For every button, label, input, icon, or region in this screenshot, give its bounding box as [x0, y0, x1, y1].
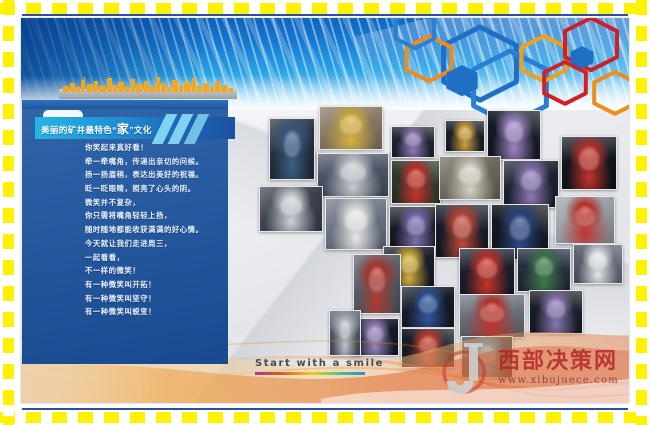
- photo-subject: [407, 217, 426, 235]
- poster-line: 你只需将嘴角轻轻上扬，: [85, 212, 235, 219]
- photo-subject: [369, 268, 386, 292]
- poster-title-band: 美丽的矿井最特色“家”文化: [35, 117, 235, 139]
- photo-office-meeting: [259, 186, 323, 232]
- photo-subject: [575, 207, 596, 226]
- bottom-blue-rule: [22, 408, 628, 410]
- title-highlight: 家: [117, 122, 129, 136]
- poster-line: 有一种微笑叫坚守！: [85, 295, 235, 302]
- photo-content: [392, 127, 434, 157]
- photo-subject: [589, 253, 606, 269]
- photo-green-jacket: [517, 248, 571, 292]
- photo-subject: [579, 148, 598, 170]
- poster-line: 微笑并不复杂，: [85, 199, 235, 206]
- border-dash-top: [0, 3, 650, 14]
- photo-content: [392, 161, 440, 203]
- photo-subject: [280, 197, 302, 215]
- city-skyline-silhouette-icon: [61, 76, 235, 92]
- tagline-color-bar: [255, 372, 365, 375]
- photo-helmet-portrait-1: [391, 126, 435, 158]
- photo-subject: [535, 258, 554, 276]
- watermark-brand: 西部决策网: [498, 351, 619, 373]
- poster-line: 扬一扬眉稍，表达出美好的祝福。: [85, 171, 235, 178]
- photo-headlamp-4: [487, 110, 541, 160]
- border-dash-right: [636, 0, 647, 425]
- watermark-text: 西部决策网 www.xibujuece.com: [498, 351, 619, 386]
- title-suffix: 文化: [134, 125, 152, 135]
- photo-content: [326, 199, 386, 249]
- photo-red-helmet-2: [459, 248, 515, 296]
- poster-body-text: 你笑起来真好看！牵一牵嘴角，传递出亲切的问候。扬一扬眉稍，表达出美好的祝福。眨一…: [85, 144, 235, 322]
- photo-subject: [405, 134, 420, 147]
- poster-line: 今天就让我们走进周三，: [85, 240, 235, 247]
- photo-red-helmet: [391, 160, 441, 204]
- poster-line: 你笑起来真好看！: [85, 144, 235, 151]
- photo-content: [518, 249, 570, 291]
- photo-content: [320, 107, 382, 149]
- watermark: 西部决策网 www.xibujuece.com: [440, 339, 619, 397]
- photo-subject: [510, 217, 530, 240]
- poster-line: 不一样的微笑！: [85, 267, 235, 274]
- photo-subject: [419, 296, 438, 313]
- photo-subject: [458, 128, 472, 141]
- photo-shop-desk: [439, 156, 501, 200]
- tagline-block: Start with a smile: [255, 358, 384, 375]
- photo-content: [460, 249, 514, 295]
- photo-subject: [505, 122, 524, 142]
- poster-line: 随时随地都能收获满满的好心情。: [85, 226, 235, 233]
- poster-line: 有一种微笑叫开拓！: [85, 281, 235, 288]
- photo-gymnasium: [555, 196, 615, 244]
- photo-subject: [521, 171, 540, 190]
- poster-canvas: 美丽的矿井最特色“家”文化 你笑起来真好看！牵一牵嘴角，传递出亲切的问候。扬一扬…: [0, 0, 650, 425]
- photo-content: [260, 187, 322, 231]
- border-dash-left: [3, 0, 14, 425]
- watermark-url: www.xibujuece.com: [498, 375, 619, 386]
- photo-content: [440, 157, 500, 199]
- poster-line: 有一种微笑叫蜕变！: [85, 308, 235, 315]
- photo-content: [504, 161, 558, 207]
- title-slash-decor: [151, 117, 261, 139]
- photo-content: [446, 121, 484, 151]
- poster-line: 牵一牵嘴角，传递出亲切的问候。: [85, 158, 235, 165]
- poster-line: 眨一眨眼睛，照亮了心头的阴。: [85, 185, 235, 192]
- photo-content: [354, 255, 400, 313]
- photo-red-cap-night: [561, 136, 617, 190]
- photo-subject: [400, 256, 418, 273]
- photo-subject: [453, 216, 472, 238]
- photo-subject: [345, 210, 367, 231]
- photo-headlamp-5: [503, 160, 559, 208]
- poster-line: 一起看看，: [85, 254, 235, 261]
- photo-white-shirt-man: [325, 198, 387, 250]
- photo-group-photo: [317, 153, 389, 197]
- top-blue-rule: [22, 14, 628, 16]
- photo-subject: [284, 132, 300, 157]
- photo-headlamp-3: [445, 120, 485, 152]
- photo-miner-control-room: [269, 118, 315, 180]
- photo-subject: [340, 163, 365, 181]
- border-dash-bottom: [0, 412, 650, 423]
- photo-desk-writing: [319, 106, 383, 150]
- photo-subject: [459, 166, 481, 184]
- photo-subject: [477, 259, 496, 278]
- photo-mask-selfie: [573, 244, 623, 284]
- photo-content: [488, 111, 540, 159]
- photo-content: [318, 154, 388, 196]
- photo-content: [556, 197, 614, 243]
- tagline-text: Start with a smile: [255, 358, 384, 369]
- stylized-j-logo-icon: [440, 341, 494, 395]
- artboard: 美丽的矿井最特色“家”文化 你笑起来真好看！牵一牵嘴角，传递出亲切的问候。扬一扬…: [21, 18, 629, 403]
- photo-red-jacket-office: [353, 254, 401, 314]
- photo-content: [270, 119, 314, 179]
- poster-title-text: 美丽的矿井最特色“家”文化: [41, 120, 152, 137]
- title-prefix: 美丽的矿井最特色: [41, 125, 112, 135]
- photo-content: [562, 137, 616, 189]
- photo-subject: [340, 116, 362, 134]
- photo-content: [574, 245, 622, 283]
- photo-subject: [407, 170, 424, 188]
